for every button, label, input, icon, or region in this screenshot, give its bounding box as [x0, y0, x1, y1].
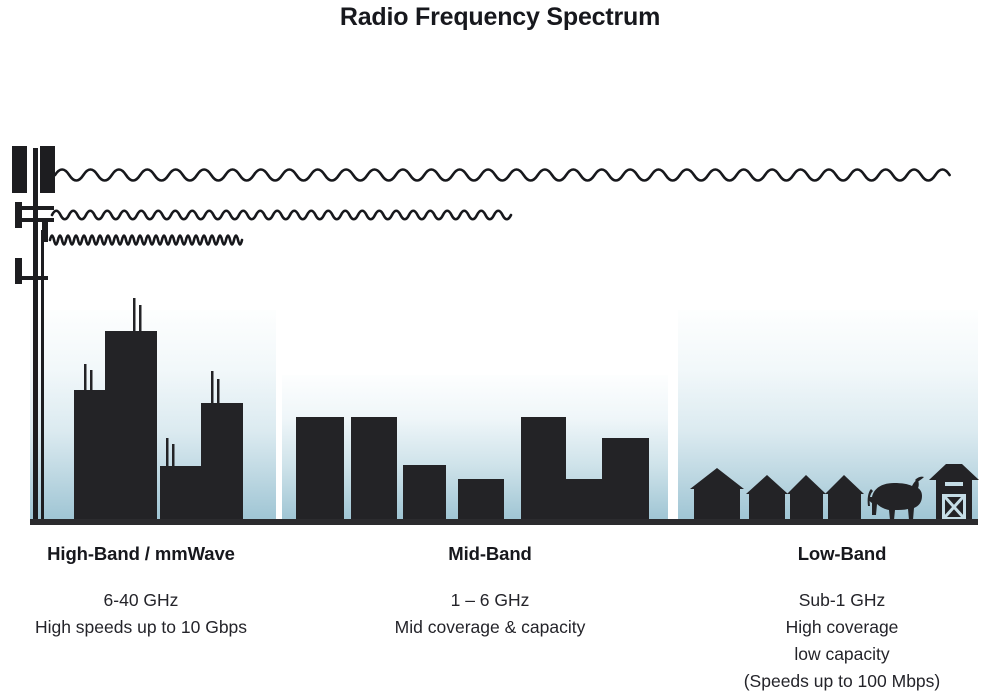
building-spire: [217, 379, 220, 405]
tower-crossarm-1: [22, 206, 54, 210]
building-body: [74, 390, 110, 520]
band-detail-frequency: 1 – 6 GHz: [340, 587, 640, 614]
building-spire: [84, 364, 87, 392]
building-body: [521, 417, 566, 520]
tower-antenna-panel-4: [42, 220, 48, 242]
building-body: [296, 417, 344, 520]
radio-waves: [50, 170, 950, 245]
building-spire: [172, 444, 175, 468]
tower-antenna-panel-1: [12, 146, 27, 193]
tower-mast-secondary: [41, 230, 44, 520]
house-body: [828, 492, 861, 520]
spectrum-illustration: [0, 0, 1000, 540]
wave-mid-band: [52, 211, 511, 220]
wave-low-band: [55, 170, 950, 181]
band-captions: High-Band / mmWave 6-40 GHz High speeds …: [0, 543, 1000, 700]
house-body: [749, 492, 785, 520]
infographic-root: Radio Frequency Spectrum: [0, 0, 1000, 700]
band-detail-frequency: Sub-1 GHz: [692, 587, 992, 614]
building-spire: [90, 370, 93, 392]
building-spire: [133, 298, 136, 333]
tower-antenna-panel-3: [15, 202, 22, 228]
barn-loft-window: [945, 482, 963, 486]
building-spire: [211, 371, 214, 405]
band-caption-low-band: Low-Band Sub-1 GHz High coverage low cap…: [692, 543, 992, 695]
building-body: [105, 331, 157, 520]
building-body: [566, 479, 602, 520]
tower-mast: [33, 148, 38, 520]
building-body: [201, 403, 243, 520]
building-body: [351, 417, 397, 520]
band-detail-speed: High speeds up to 10 Gbps: [0, 614, 282, 641]
tower-crossarm-2: [22, 218, 54, 222]
building: [105, 298, 157, 520]
tower-crossarm-3: [22, 276, 48, 280]
band-detail-frequency: 6-40 GHz: [0, 587, 282, 614]
band-caption-high-band: High-Band / mmWave 6-40 GHz High speeds …: [0, 543, 282, 641]
building-spire: [139, 305, 142, 333]
house-body: [694, 487, 740, 520]
building-body: [458, 479, 504, 520]
band-detail-coverage: High coverage: [692, 614, 992, 641]
building-body: [160, 466, 203, 520]
band-title-mid-band: Mid-Band: [340, 543, 640, 565]
building-spire: [166, 438, 169, 468]
tower-antenna-panel-2: [40, 146, 55, 193]
band-detail-coverage: Mid coverage & capacity: [340, 614, 640, 641]
building-body: [602, 438, 649, 520]
wave-high-band: [50, 236, 242, 245]
band-title-low-band: Low-Band: [692, 543, 992, 565]
band-detail-speed: (Speeds up to 100 Mbps): [692, 668, 992, 695]
band-caption-mid-band: Mid-Band 1 – 6 GHz Mid coverage & capaci…: [340, 543, 640, 641]
band-title-high-band: High-Band / mmWave: [0, 543, 282, 565]
band-detail-capacity: low capacity: [692, 641, 992, 668]
ground-line: [30, 519, 978, 525]
building-body: [403, 465, 446, 520]
house-body: [790, 492, 823, 520]
tower-antenna-panel-5: [15, 258, 22, 284]
